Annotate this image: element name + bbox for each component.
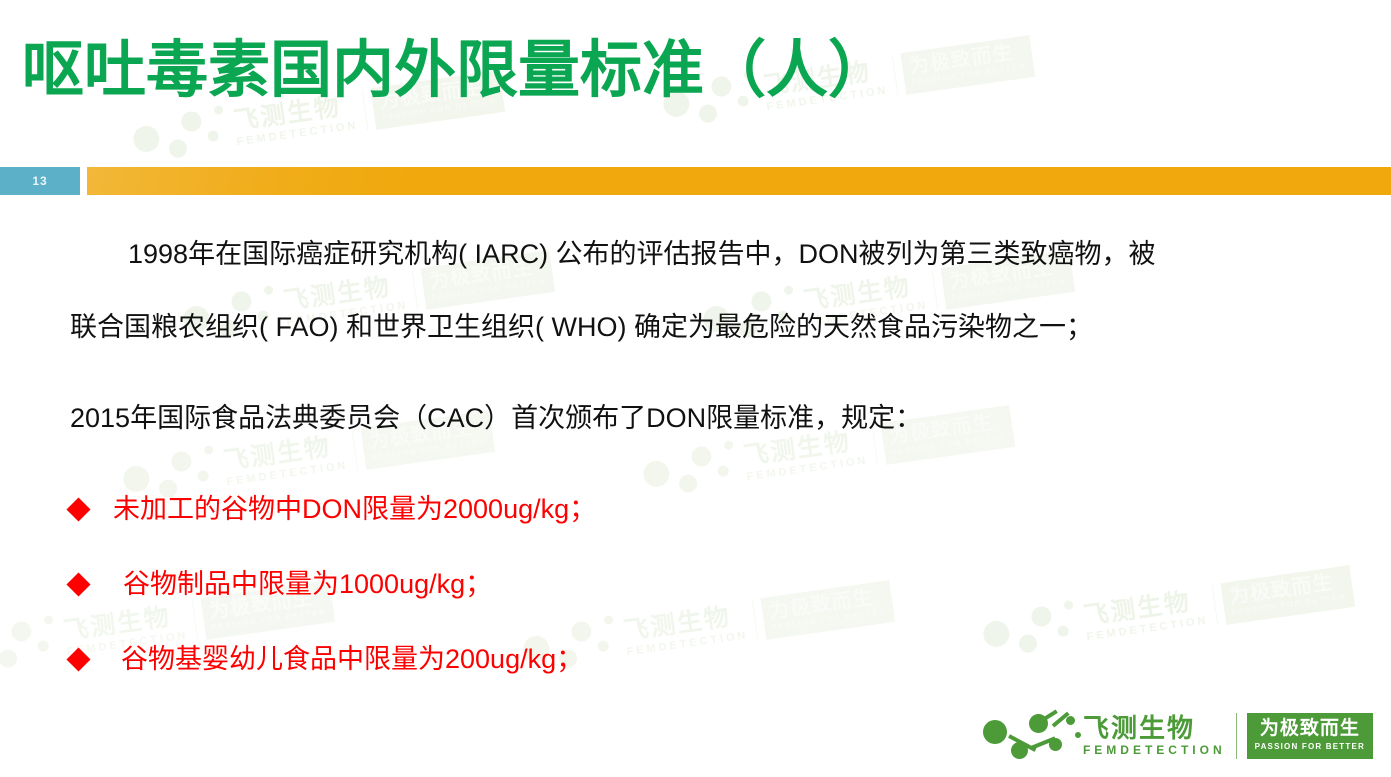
brand-slogan-cn: 为极致而生 — [1260, 719, 1360, 740]
diamond-bullet-icon — [66, 572, 90, 596]
page-number-badge: 13 — [0, 167, 80, 195]
logo-divider — [1236, 713, 1237, 759]
paragraph-1-line-2: 联合国粮农组织( FAO) 和世界卫生组织( WHO) 确定为最危险的天然食品污… — [70, 311, 1093, 343]
watermark-slogan-en: PASSION FOR BETTER — [911, 62, 1027, 88]
brand-slogan-badge: 为极致而生 PASSION FOR BETTER — [1247, 713, 1373, 759]
list-item: 谷物制品中限量为1000ug/kg； — [70, 568, 492, 600]
list-item-label: 未加工的谷物中DON限量为2000ug/kg； — [113, 493, 596, 525]
brand-name-cn: 飞测生物 — [1083, 715, 1226, 742]
footer-brand-logo: 飞测生物 FEMDETECTION 为极致而生 PASSION FOR BETT… — [983, 705, 1373, 767]
brand-wordmark: 飞测生物 FEMDETECTION — [1083, 715, 1226, 758]
page-title: 呕吐毒素国内外限量标准（人） — [22, 38, 890, 103]
paragraph-1-line-1: 1998年在国际癌症研究机构( IARC) 公布的评估报告中，DON被列为第三类… — [128, 238, 1156, 270]
header-accent-bar-sheen — [87, 167, 417, 195]
watermark-slogan-badge: 为极致而生 PASSION FOR BETTER — [900, 35, 1034, 94]
brand-slogan-en: PASSION FOR BETTER — [1255, 742, 1365, 752]
molecule-icon — [128, 102, 239, 170]
list-item: 未加工的谷物中DON限量为2000ug/kg； — [70, 493, 596, 525]
watermark-brand-en: FEMDETECTION — [236, 120, 359, 148]
watermark-slogan-cn: 为极致而生 — [908, 41, 1026, 78]
diamond-bullet-icon — [66, 497, 90, 521]
list-item: 谷物基婴幼儿食品中限量为200ug/kg； — [70, 643, 583, 675]
page-number-label: 13 — [32, 174, 47, 188]
list-item-label: 谷物基婴幼儿食品中限量为200ug/kg； — [121, 643, 583, 675]
paragraph-2: 2015年国际食品法典委员会（CAC）首次颁布了DON限量标准，规定： — [70, 402, 922, 434]
molecule-icon — [983, 708, 1087, 764]
header-accent-bar — [87, 167, 1391, 195]
brand-name-en: FEMDETECTION — [1083, 743, 1226, 757]
diamond-bullet-icon — [66, 647, 90, 671]
slide-body: 1998年在国际癌症研究机构( IARC) 公布的评估报告中，DON被列为第三类… — [0, 195, 1391, 777]
list-item-label: 谷物制品中限量为1000ug/kg； — [123, 568, 492, 600]
slide-canvas: 飞测生物 FEMDETECTION 为极致而生 PASSION FOR BETT… — [0, 0, 1391, 777]
